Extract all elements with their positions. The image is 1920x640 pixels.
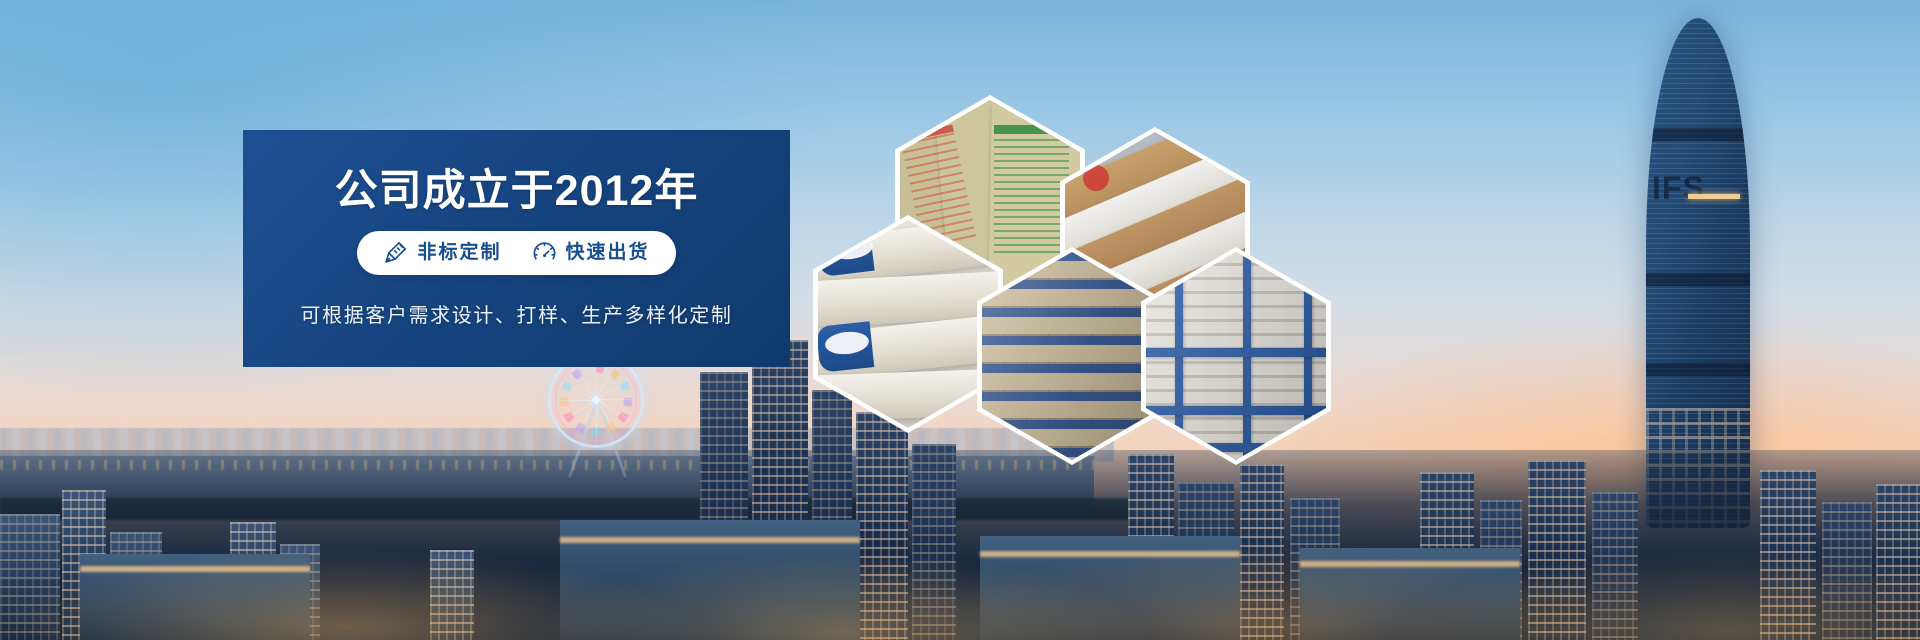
promo-panel: 公司成立于2012年 非标定制	[243, 130, 790, 367]
page-title: 公司成立于2012年	[335, 170, 699, 213]
feature-fast-shipping-label: 快速出货	[566, 243, 650, 262]
page-subtitle: 可根据客户需求设计、打样、生产多样化定制	[301, 299, 733, 328]
hero-banner: IFS	[0, 0, 1920, 640]
ifs-tower-label: IFS	[1652, 170, 1705, 207]
feature-fast-shipping[interactable]: 快速出货	[532, 240, 650, 265]
stacked-pallets-photo	[982, 252, 1162, 460]
lactalis-sacks-photo	[818, 220, 998, 428]
warehouse-racking-photo	[1146, 252, 1326, 460]
pen-ruler-icon	[383, 240, 408, 265]
city-light-glow	[0, 480, 1920, 640]
speedometer-icon	[532, 240, 557, 265]
product-hex-gallery	[795, 95, 1305, 435]
feature-custom[interactable]: 非标定制	[383, 240, 501, 265]
feature-pill: 非标定制 快速出货	[357, 231, 675, 275]
tower-lit-strip	[1688, 194, 1740, 199]
feature-custom-label: 非标定制	[417, 243, 501, 262]
